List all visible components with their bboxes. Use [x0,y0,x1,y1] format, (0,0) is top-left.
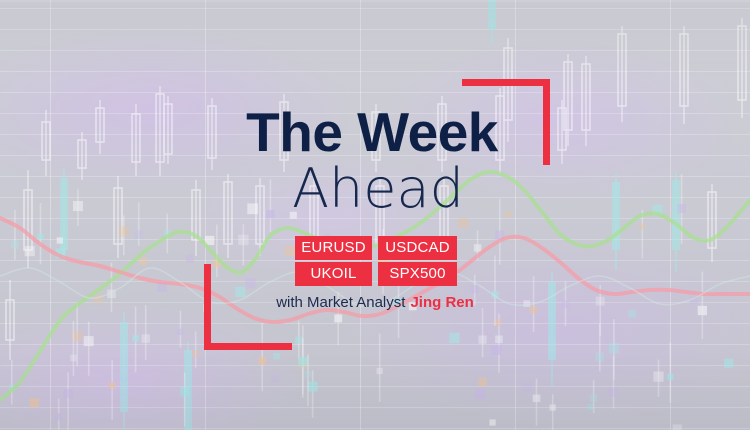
page-title: The Week Ahead [0,104,750,218]
week-ahead-banner: The Week Ahead EURUSD USDCAD UKOIL SPX50… [0,0,750,430]
symbol-badge-spx500[interactable]: SPX500 [378,262,457,286]
banner-content: The Week Ahead EURUSD USDCAD UKOIL SPX50… [0,0,750,430]
title-line-primary: The Week [0,104,750,160]
symbol-badge-eurusd[interactable]: EURUSD [295,236,372,260]
byline-prefix: with Market Analyst [276,294,405,311]
analyst-name: Jing Ren [410,294,473,311]
title-line-secondary: Ahead [0,160,750,218]
symbol-badge-ukoil[interactable]: UKOIL [295,262,372,286]
symbol-badge-group: EURUSD USDCAD UKOIL SPX500 [295,236,457,286]
corner-bracket-bottom-left-horizontal [204,343,292,350]
byline: with Market AnalystJing Ren [0,294,750,311]
corner-bracket-top-right-horizontal [462,79,550,86]
symbol-badge-usdcad[interactable]: USDCAD [378,236,457,260]
